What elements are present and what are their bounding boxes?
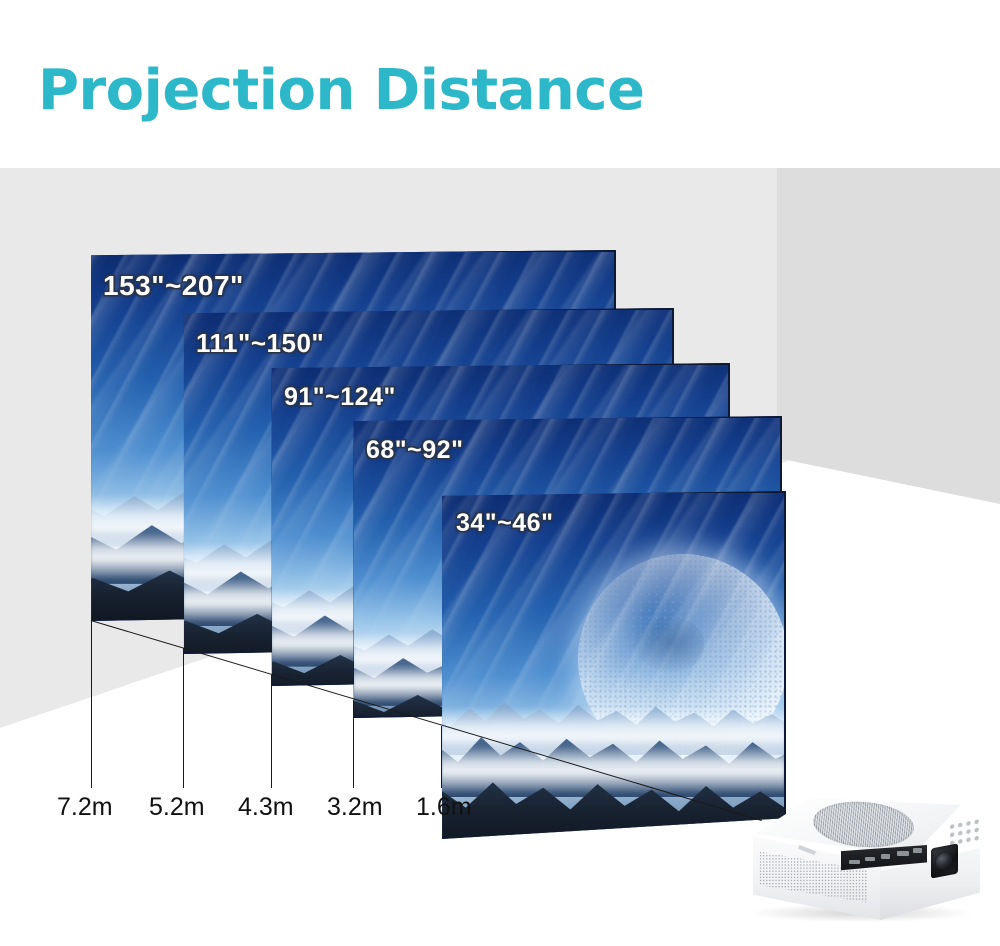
av-port-icon bbox=[897, 851, 909, 856]
distance-label-3: 4.3m bbox=[238, 793, 294, 822]
usb-port-icon-2 bbox=[881, 854, 890, 859]
drop-line-3 bbox=[271, 675, 272, 788]
side-wall bbox=[777, 168, 1000, 768]
distance-label-2: 5.2m bbox=[149, 793, 205, 822]
projection-screen-5: 34"~46" bbox=[440, 491, 786, 839]
aux-port-icon bbox=[913, 848, 922, 853]
lens-icon bbox=[931, 843, 958, 878]
distance-label-4: 3.2m bbox=[327, 793, 383, 822]
drop-line-4 bbox=[353, 700, 354, 788]
drop-line-5 bbox=[441, 726, 442, 788]
keypad-icon bbox=[948, 817, 982, 848]
drop-line-2 bbox=[183, 648, 184, 788]
screen-size-label-4: 68"~92" bbox=[366, 436, 463, 465]
screen-size-label-3: 91"~124" bbox=[284, 383, 396, 412]
drop-line-1 bbox=[91, 620, 92, 788]
distance-label-1: 7.2m bbox=[57, 793, 113, 822]
projector-device bbox=[735, 798, 985, 920]
hdmi-port-icon bbox=[849, 860, 860, 864]
screen-image-5 bbox=[440, 491, 786, 839]
screen-size-label-2: 111"~150" bbox=[196, 328, 324, 359]
usb-port-icon bbox=[865, 857, 875, 861]
header-band: Projection Distance bbox=[0, 0, 1000, 168]
infographic-canvas: Projection Distance 153"~207" bbox=[0, 0, 1000, 946]
screen-size-label-1: 153"~207" bbox=[103, 270, 244, 302]
distance-label-5: 1.6m bbox=[416, 793, 472, 822]
page-title: Projection Distance bbox=[38, 58, 644, 123]
screen-size-label-5: 34"~46" bbox=[456, 509, 553, 538]
